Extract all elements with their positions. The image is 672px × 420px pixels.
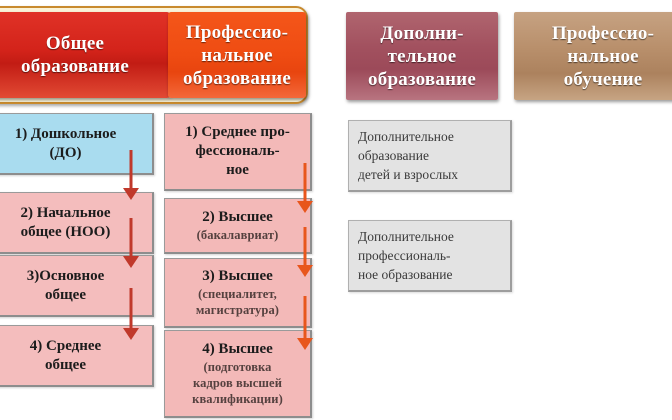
arrow-professional-1-to-2 xyxy=(296,163,314,213)
header-professional-line-2: нальное xyxy=(201,44,273,67)
arrow-general-3-to-4 xyxy=(122,288,140,340)
box-additional-2-line-2: профессиональ- xyxy=(358,246,501,265)
header-general-line-1: Общее xyxy=(46,32,104,55)
box-general-1-line-1: 1) Дошкольное xyxy=(0,125,146,144)
header-vocational-training[interactable]: Профессио- нальное обучение xyxy=(514,12,672,100)
box-additional-1-line-2: образование xyxy=(358,146,501,165)
header-additional-education[interactable]: Дополни- тельное образование xyxy=(346,12,498,100)
header-professional-line-1: Професси­о- xyxy=(186,21,288,44)
box-professional-2-line-1: 2) Высшее xyxy=(171,208,304,227)
box-additional-1-children-adults[interactable]: Дополнительное образование детей и взрос… xyxy=(348,120,512,192)
box-professional-3-sub-2: магистратура) xyxy=(171,302,304,318)
box-professional-4-highest-qualification[interactable]: 4) Высшее (подготовка кадров высшей квал… xyxy=(164,330,312,418)
box-professional-3-line-1: 3) Высшее xyxy=(171,267,304,286)
box-additional-1-line-1: Дополнительное xyxy=(358,127,501,146)
box-professional-4-sub-3: квалификации) xyxy=(171,391,304,407)
box-professional-4-line-1: 4) Высшее xyxy=(171,340,304,359)
header-additional-line-3: образование xyxy=(368,68,476,91)
header-training-line-1: Профессио- xyxy=(552,22,654,45)
arrow-professional-2-to-3 xyxy=(296,227,314,277)
arrow-general-2-to-3 xyxy=(122,218,140,268)
box-professional-1-line-3: ное xyxy=(171,161,304,180)
header-general-line-2: образование xyxy=(21,55,129,78)
header-general-education[interactable]: Общее образование xyxy=(0,12,170,98)
header-training-line-2: нальное xyxy=(567,45,639,68)
box-professional-2-sub-1: (бакалавриат) xyxy=(171,227,304,243)
box-general-3-line-1: 3)Основное xyxy=(0,267,146,286)
arrow-general-1-to-2 xyxy=(122,150,140,200)
diagram-canvas: Общее образование Професси­о- нальное об… xyxy=(0,0,672,420)
box-professional-4-sub-1: (подготовка xyxy=(171,359,304,375)
box-additional-2-line-3: ное образование xyxy=(358,265,501,284)
box-professional-1-line-2: фессиональ- xyxy=(171,142,304,161)
box-general-4-line-2: общее xyxy=(0,356,146,375)
header-training-line-3: обучение xyxy=(564,68,643,91)
box-professional-1-line-1: 1) Среднее про- xyxy=(171,123,304,142)
box-additional-2-line-1: Дополнительное xyxy=(358,227,501,246)
header-additional-line-1: Дополни- xyxy=(380,22,463,45)
header-professional-education[interactable]: Професси­о- нальное образование xyxy=(168,12,306,98)
box-professional-3-specialist-master[interactable]: 3) Высшее (специалитет, магистратура) xyxy=(164,258,312,328)
box-professional-1-spo[interactable]: 1) Среднее про- фессиональ- ное xyxy=(164,113,312,191)
header-additional-line-2: тельное xyxy=(388,45,457,68)
box-additional-2-professional[interactable]: Дополнительное профессиональ- ное образо… xyxy=(348,220,512,292)
box-professional-2-bachelor[interactable]: 2) Высшее (бакалавриат) xyxy=(164,198,312,254)
box-professional-3-sub-1: (специалитет, xyxy=(171,286,304,302)
header-professional-line-3: образование xyxy=(183,67,291,90)
arrow-professional-3-to-4 xyxy=(296,296,314,350)
box-professional-4-sub-2: кадров высшей xyxy=(171,375,304,391)
box-additional-1-line-3: детей и взрослых xyxy=(358,165,501,184)
